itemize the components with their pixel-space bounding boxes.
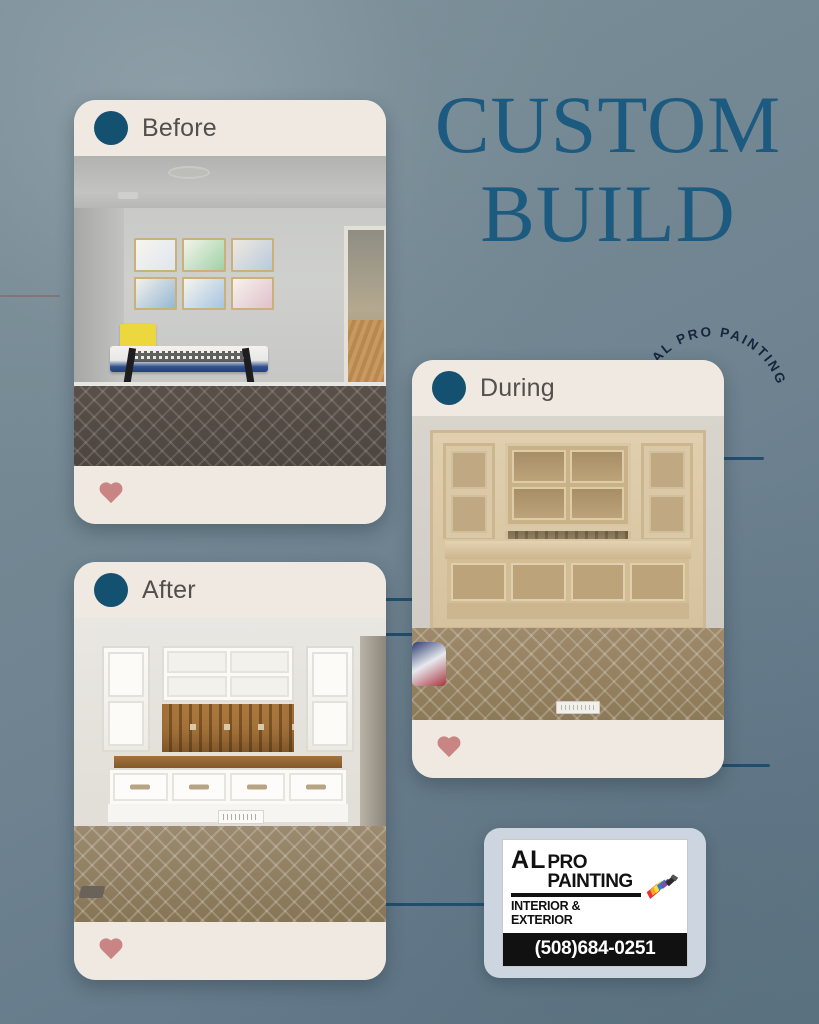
cabinet-panel: [451, 495, 487, 533]
cabinet-panel: [649, 495, 685, 533]
drawer: [451, 563, 506, 601]
page-title: CUSTOM BUILD: [408, 86, 808, 252]
poster-canvas: CUSTOM BUILD AL PRO PAINTING Before: [0, 0, 819, 1024]
logo-card[interactable]: A L PRO PAINTING INTERIOR & EXTERIOR: [484, 828, 706, 978]
bag-on-floor: [412, 642, 446, 686]
connector-line-during-right-top: [722, 457, 764, 460]
card-label-during: During: [480, 374, 555, 403]
shelf-cube: [570, 487, 624, 520]
logo-wordmark: A L PRO PAINTING INTERIOR & EXTERIOR: [511, 848, 641, 927]
bench-seat: [443, 539, 693, 561]
cabinet-door: [312, 652, 348, 697]
drawer-pull: [189, 785, 209, 790]
logo-plate: A L PRO PAINTING INTERIOR & EXTERIOR: [502, 839, 688, 967]
coat-hooks: [162, 724, 294, 730]
card-header-after: After: [74, 562, 386, 618]
side-cabinet-left: [102, 646, 150, 752]
drawer-pull: [306, 785, 326, 790]
shelf-cube: [512, 450, 566, 483]
drawer: [172, 773, 227, 801]
shelf-cube: [512, 487, 566, 520]
drawer: [571, 563, 626, 601]
cabinet-door: [108, 652, 144, 697]
photo-card-after[interactable]: After: [74, 562, 386, 980]
paintbrush-icon: [645, 873, 679, 903]
photo-card-before[interactable]: Before: [74, 100, 386, 524]
side-cabinet-left: [443, 443, 495, 541]
logo-divider-rule: [511, 893, 641, 897]
drawer-bank: [108, 768, 348, 806]
cabinet-panel: [649, 451, 685, 489]
drawer-pull: [247, 785, 267, 790]
logo-pro-painting: PRO PAINTING: [547, 853, 641, 891]
floor-vent: [218, 810, 264, 824]
photo-card-during[interactable]: During: [412, 360, 724, 778]
card-footer-before: [74, 466, 386, 524]
framed-art-grid: [134, 238, 274, 310]
open-shelving: [162, 646, 294, 702]
ceiling: [74, 156, 386, 208]
avatar: [94, 573, 128, 607]
cabinet-door: [312, 701, 348, 746]
side-cabinet-right: [641, 443, 693, 541]
carpet: [74, 386, 386, 466]
door-jamb: [360, 636, 386, 826]
framed-art: [231, 238, 274, 272]
heart-icon[interactable]: [436, 737, 462, 761]
drawer: [630, 563, 685, 601]
logo-top-row: A L PRO PAINTING INTERIOR & EXTERIOR: [503, 840, 687, 933]
logo-tagline: INTERIOR & EXTERIOR: [511, 899, 641, 927]
carpet: [74, 826, 386, 922]
drawer: [289, 773, 344, 801]
floor-register: [79, 886, 106, 898]
framed-art: [134, 238, 177, 272]
drawer: [230, 773, 285, 801]
drawer-bank: [447, 559, 689, 605]
avatar: [94, 111, 128, 145]
avatar: [432, 371, 466, 405]
card-label-after: After: [142, 576, 196, 605]
heart-icon[interactable]: [98, 483, 124, 507]
built-in-unit-finished: [100, 640, 356, 826]
floor-vent: [556, 701, 600, 714]
shelf-cube: [167, 651, 227, 673]
framed-art: [182, 238, 225, 272]
framed-art: [231, 277, 274, 311]
toe-kick: [447, 603, 689, 619]
card-footer-after: [74, 922, 386, 980]
drawer: [113, 773, 168, 801]
open-shelving: [505, 443, 631, 527]
logo-brand-line: A L PRO PAINTING: [511, 848, 641, 891]
photo-during: [412, 416, 724, 720]
card-header-during: During: [412, 360, 724, 416]
connector-line-left-before: [0, 295, 60, 297]
drawer-pull: [130, 785, 150, 790]
headline-line-1: CUSTOM: [408, 86, 808, 163]
framed-art: [134, 277, 177, 311]
doorway-interior: [348, 230, 384, 390]
card-label-before: Before: [142, 114, 217, 143]
ceiling-vent: [118, 192, 138, 199]
built-in-unit-raw: [430, 430, 706, 630]
cabinet-panel: [451, 451, 487, 489]
cabinet-door: [108, 701, 144, 746]
card-header-before: Before: [74, 100, 386, 156]
framed-art: [182, 277, 225, 311]
headline-line-2: BUILD: [408, 175, 808, 252]
logo-phone: (508)684-0251: [503, 933, 687, 966]
side-cabinet-right: [306, 646, 354, 752]
ceiling-light: [168, 166, 210, 179]
shelf-cube: [570, 450, 624, 483]
card-footer-during: [412, 720, 724, 778]
logo-letter-a: A: [511, 848, 528, 873]
shelf-cube: [167, 676, 227, 698]
photo-after: [74, 618, 386, 922]
connector-line-during-right-bottom: [722, 764, 770, 767]
photo-before: [74, 156, 386, 466]
logo-letter-l: L: [530, 848, 545, 873]
heart-icon[interactable]: [98, 939, 124, 963]
shelf-cube: [230, 651, 290, 673]
shelf-cube: [230, 676, 290, 698]
drawer: [511, 563, 566, 601]
